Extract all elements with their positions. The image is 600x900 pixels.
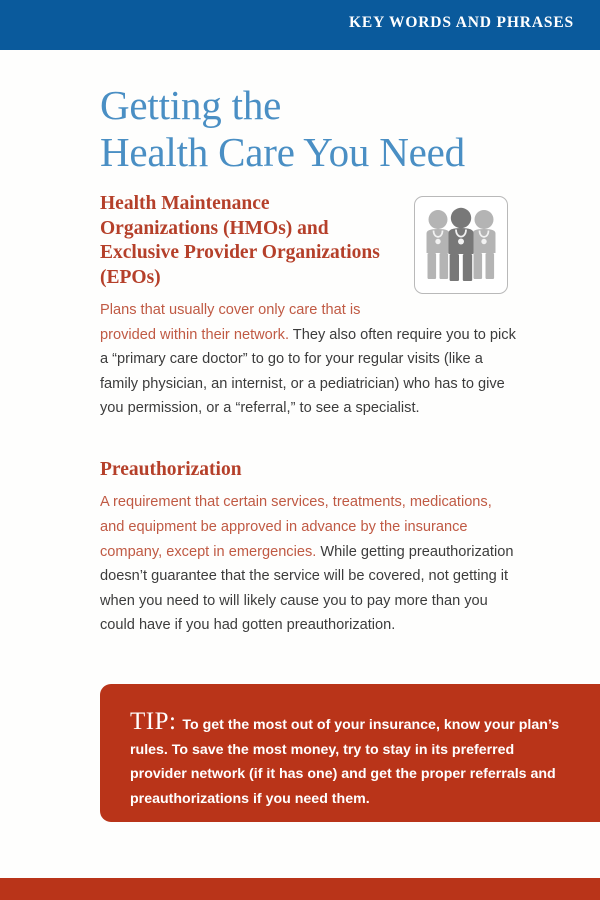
top-banner: KEY WORDS AND PHRASES — [0, 0, 600, 50]
page-title-line-2: Health Care You Need — [100, 129, 520, 176]
tip-body: To get the most out of your insurance, k… — [130, 717, 559, 807]
tip-text: TIP: To get the most out of your insuran… — [130, 710, 572, 811]
section-heading-preauthorization: Preauthorization — [100, 458, 520, 483]
banner-label: KEY WORDS AND PHRASES — [349, 14, 574, 32]
section-body-preauthorization: A requirement that certain services, tre… — [100, 490, 520, 638]
tip-callout-box: TIP: To get the most out of your insuran… — [100, 684, 600, 822]
section-preauthorization: Preauthorization A requirement that cert… — [100, 429, 520, 638]
footer-bar — [0, 878, 600, 900]
main-content: Getting the Health Care You Need — [100, 82, 520, 638]
page-title-line-1: Getting the — [100, 82, 520, 129]
section-heading-hmo-epo: Health Maintenance Organizations (HMOs) … — [100, 192, 390, 290]
section-body-hmo-epo: Plans that usually cover only care that … — [100, 298, 520, 421]
page-title: Getting the Health Care You Need — [100, 82, 520, 176]
tip-label: TIP: — [130, 708, 178, 735]
document-page: KEY WORDS AND PHRASES Getting the Health… — [0, 0, 600, 900]
three-doctors-icon — [414, 196, 508, 294]
